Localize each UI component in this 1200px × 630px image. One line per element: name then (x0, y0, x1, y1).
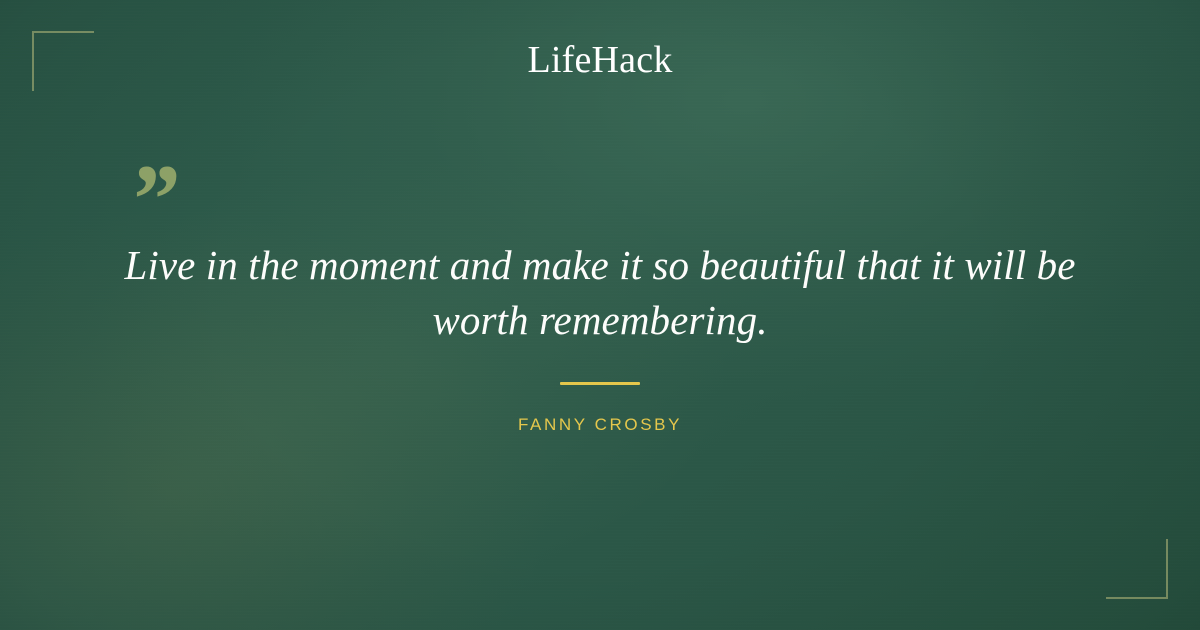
quote-author: FANNY CROSBY (0, 413, 1200, 437)
quote-card: LifeHack ” Live in the moment and make i… (0, 0, 1200, 630)
quotation-mark-icon: ” (128, 150, 178, 250)
divider-rule (560, 382, 640, 385)
quote-content: ” Live in the moment and make it so beau… (0, 0, 1200, 630)
quote-text: Live in the moment and make it so beauti… (100, 238, 1100, 348)
